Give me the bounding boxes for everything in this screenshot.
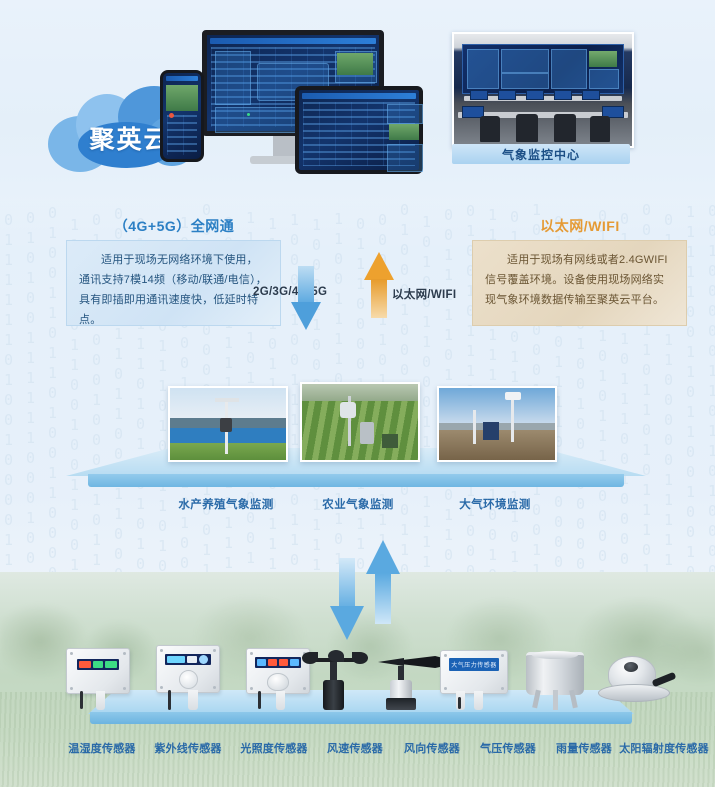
sensor-label-solar-radiation: 太阳辐射度传感器 xyxy=(618,740,710,756)
device-cluster xyxy=(140,28,420,173)
sensor-label-pressure: 气压传感器 xyxy=(475,740,541,756)
sensor-device-uv xyxy=(156,645,222,710)
camera-preview xyxy=(337,53,373,75)
dashboard-header-bar xyxy=(210,38,376,44)
weather-mast xyxy=(473,410,476,444)
sensor-device-wind-speed xyxy=(300,652,370,710)
anemometer-shaft xyxy=(330,662,337,682)
record-dot xyxy=(169,113,174,118)
anemometer-cup xyxy=(302,652,318,664)
pyranometer-base xyxy=(598,684,670,702)
phone-list xyxy=(167,115,197,155)
binary-column: 0 1 0 0 1 1 0 1 1 0 1 0 0 1 1 0 0 0 0 1 … xyxy=(48,203,57,620)
phone-camera-view xyxy=(166,85,198,111)
left-comm-box: 适用于现场无网络环境下使用，通讯支持7模14频（移动/联通/电信），具有即插即用… xyxy=(66,240,281,326)
sensor-label-illuminance: 光照度传感器 xyxy=(238,740,310,756)
uplink-arrow-icon xyxy=(364,252,394,318)
wall-tile xyxy=(501,73,549,89)
wind-vane-nose xyxy=(378,658,404,666)
sensor-label-wind-direction: 风向传感器 xyxy=(399,740,465,756)
data-flow-arrows xyxy=(330,540,402,646)
tripod-leg xyxy=(553,690,558,710)
video-wall xyxy=(462,44,624,94)
sensor-enclosure xyxy=(360,422,374,444)
solar-panel xyxy=(483,422,499,440)
dashboard-panel xyxy=(215,51,251,105)
lcd-display xyxy=(255,657,301,668)
funnel-rim xyxy=(532,651,578,659)
sensor-eye xyxy=(624,662,638,672)
binary-column: 0 1 1 1 1 1 1 0 1 0 0 1 0 0 0 0 1 1 1 1 … xyxy=(4,210,13,620)
sensor-device-rain-gauge xyxy=(520,652,592,710)
radiation-shield xyxy=(340,402,356,418)
mobile-phone xyxy=(160,70,204,162)
uplink-arrow-large-icon xyxy=(366,540,400,624)
scene-label-agriculture: 农业气象监测 xyxy=(278,496,438,512)
tablet-device xyxy=(295,86,423,174)
sensor-device-solar-radiation xyxy=(596,654,678,710)
right-comm-title: 以太网/WIFI xyxy=(470,216,690,236)
binary-column: 0 0 1 0 0 0 0 0 1 1 0 1 1 0 1 0 0 0 0 0 … xyxy=(708,201,715,620)
anemometer-arm xyxy=(215,398,239,402)
binary-column: 1 1 1 1 1 0 0 1 1 0 1 1 0 0 1 0 0 1 0 0 … xyxy=(686,202,695,620)
operator-monitor xyxy=(498,90,516,100)
binary-column: 1 0 1 0 0 1 1 0 0 0 1 1 0 1 1 1 1 1 0 0 … xyxy=(422,212,431,620)
wall-video-feed xyxy=(589,51,617,67)
vane-base xyxy=(386,698,416,710)
office-chair xyxy=(554,114,576,142)
downlink-arrow-large-icon xyxy=(330,558,364,642)
pressure-label-badge: 大气压力传感器 xyxy=(449,658,499,671)
wall-tile xyxy=(589,69,619,89)
wall-tile xyxy=(551,49,587,89)
operator-monitor xyxy=(470,90,488,100)
scene-label-atmosphere: 大气环境监测 xyxy=(415,496,575,512)
lcd-display xyxy=(77,659,119,670)
office-chair xyxy=(516,114,538,142)
anemometer-cup xyxy=(352,652,368,664)
operator-monitor xyxy=(526,90,544,100)
right-comm-box: 适用于现场有网线或者2.4GWIFI信号覆盖环境。设备使用现场网络实现气象环境数… xyxy=(472,240,687,326)
sensor-head xyxy=(505,392,521,400)
phone-header-bar xyxy=(166,76,198,81)
sensor-device-pressure: 大气压力传感器 xyxy=(440,650,510,710)
anemometer-body xyxy=(323,680,344,710)
monitoring-center-label: 气象监控中心 xyxy=(452,144,630,164)
sensor-label-temp-humidity: 温湿度传感器 xyxy=(66,740,138,756)
tablet-chart xyxy=(389,124,419,140)
downlink-arrow-icon xyxy=(291,266,321,330)
sensor-device-temp-humidity xyxy=(66,648,132,710)
infographic-canvas: 0 1 1 1 1 1 1 0 1 0 0 1 0 0 0 0 1 1 1 1 … xyxy=(0,0,715,787)
wall-tile xyxy=(467,49,499,89)
anemometer-cup xyxy=(328,650,344,662)
tablet-panel xyxy=(387,144,423,172)
right-comm-body: 适用于现场有网线或者2.4GWIFI信号覆盖环境。设备使用现场网络实现气象环境数… xyxy=(485,250,674,310)
uv-dome-icon xyxy=(179,670,198,689)
scene-photo-aquaculture xyxy=(168,386,288,462)
tablet-header-bar xyxy=(302,93,416,99)
monitoring-center-photo xyxy=(452,32,634,148)
ethernet-arrow-label: 以太网/WIFI xyxy=(392,286,456,302)
light-dome-icon xyxy=(267,673,289,691)
left-comm-title: （4G+5G）全网通 xyxy=(64,216,284,236)
operator-monitor xyxy=(582,90,600,100)
sensor-label-wind-speed: 风速传感器 xyxy=(322,740,388,756)
wall-tile xyxy=(501,49,549,73)
office-chair xyxy=(590,116,610,142)
lcd-display xyxy=(165,654,211,665)
operator-monitor xyxy=(554,90,572,100)
binary-column: 0 1 0 1 0 0 1 1 1 1 1 1 0 0 0 1 0 0 1 0 … xyxy=(26,208,35,620)
sensor-label-uv: 紫外线传感器 xyxy=(152,740,224,756)
scene-photo-atmosphere xyxy=(437,386,557,462)
scene-photo-agriculture xyxy=(300,382,420,462)
sensor-box xyxy=(220,418,232,432)
sensor-label-rain: 雨量传感器 xyxy=(551,740,617,756)
weather-mast xyxy=(511,396,514,442)
status-dot xyxy=(247,113,250,116)
field-equipment xyxy=(382,434,398,448)
tablet-panel xyxy=(387,104,423,124)
vane-body xyxy=(390,680,412,700)
office-chair xyxy=(480,116,500,142)
left-comm-body: 适用于现场无网络环境下使用，通讯支持7模14频（移动/联通/电信），具有即插即用… xyxy=(79,250,268,330)
